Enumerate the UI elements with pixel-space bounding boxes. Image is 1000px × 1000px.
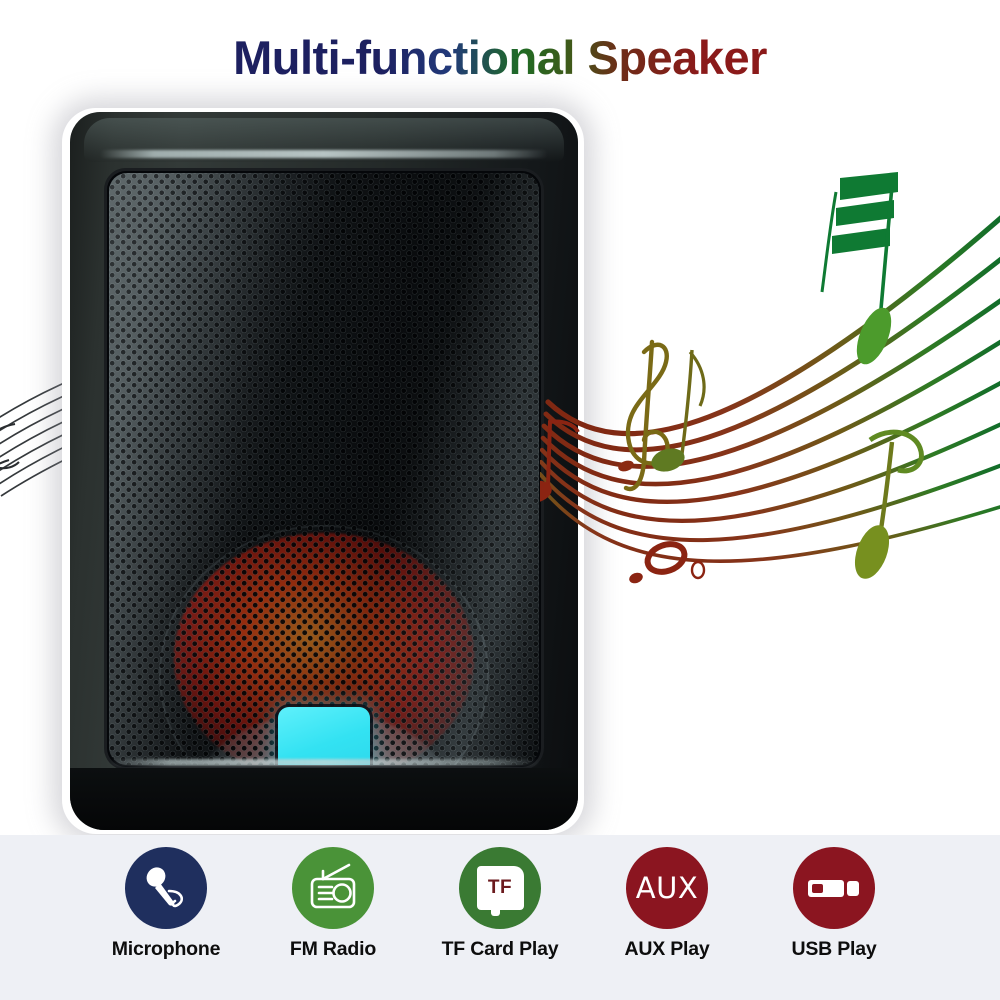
feature-aux-play[interactable]: AUX AUX Play bbox=[584, 847, 751, 961]
feature-microphone[interactable]: Microphone bbox=[83, 847, 250, 961]
feature-label: USB Play bbox=[791, 938, 876, 961]
quarter-note bbox=[649, 350, 704, 475]
lower-note-cluster bbox=[848, 432, 921, 583]
feature-fm-radio[interactable]: FM Radio bbox=[250, 847, 417, 961]
feature-label: Microphone bbox=[112, 938, 221, 961]
usb-icon-circle[interactable] bbox=[793, 847, 875, 929]
feature-usb-play[interactable]: USB Play bbox=[751, 847, 918, 961]
speaker-cabinet bbox=[70, 112, 578, 830]
cabinet-bottom-highlight bbox=[110, 759, 540, 766]
grille-perforation-mesh bbox=[109, 173, 539, 765]
tf-card-icon-circle[interactable]: TF bbox=[459, 847, 541, 929]
aux-icon-circle[interactable]: AUX bbox=[626, 847, 708, 929]
music-staff-notes bbox=[540, 170, 1000, 630]
feature-label: FM Radio bbox=[290, 938, 376, 961]
led-panel bbox=[278, 707, 370, 765]
product-banner: Multi-functional Speaker bbox=[0, 0, 1000, 1000]
feature-label: AUX Play bbox=[624, 938, 709, 961]
radio-icon bbox=[305, 862, 361, 914]
microphone-icon bbox=[139, 861, 193, 915]
speaker-grille bbox=[109, 173, 539, 765]
cabinet-top-highlight bbox=[100, 150, 548, 158]
speaker-grille-frame bbox=[104, 168, 544, 770]
usb-drive-icon bbox=[807, 871, 861, 905]
feature-strip: Microphone bbox=[0, 835, 1000, 1000]
aux-icon: AUX bbox=[636, 871, 698, 905]
beamed-eighth-notes bbox=[822, 172, 898, 369]
feature-label: TF Card Play bbox=[442, 938, 559, 961]
tf-card-icon: TF bbox=[477, 866, 524, 910]
radio-icon-circle[interactable] bbox=[292, 847, 374, 929]
page-title: Multi-functional Speaker bbox=[0, 34, 1000, 81]
cabinet-base bbox=[70, 768, 578, 830]
whole-note bbox=[628, 539, 704, 585]
feature-tf-card-play[interactable]: TF TF Card Play bbox=[417, 847, 584, 961]
microphone-icon-circle[interactable] bbox=[125, 847, 207, 929]
tf-card-label: TF bbox=[488, 877, 512, 899]
